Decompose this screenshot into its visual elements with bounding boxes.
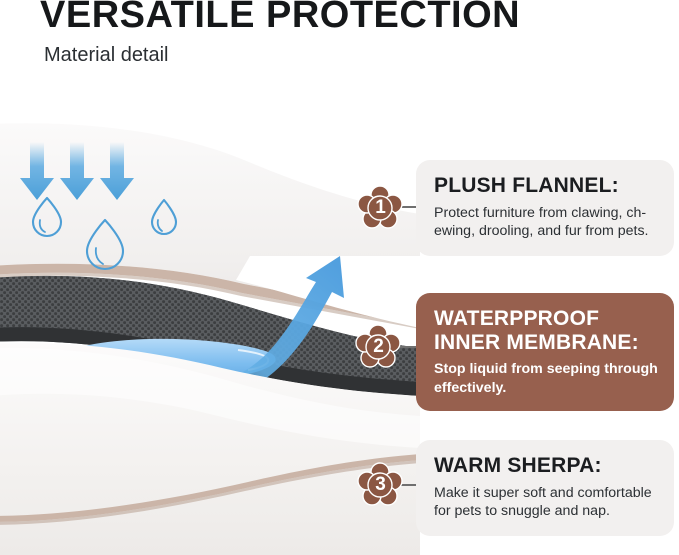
feature-card-plush-flannel-title: PLUSH FLANNEL: bbox=[434, 174, 658, 198]
feature-card-waterproof-membrane-title: WATERPPROOF INNER MEMBRANE: bbox=[434, 307, 658, 354]
feature-card-waterproof-membrane: WATERPPROOF INNER MEMBRANE: Stop liquid … bbox=[416, 293, 674, 411]
down-arrows-group bbox=[20, 142, 134, 200]
step-badge-2-number: 2 bbox=[355, 324, 401, 370]
feature-card-warm-sherpa-title: WARM SHERPA: bbox=[434, 454, 658, 478]
page-title: VERSATILE PROTECTION bbox=[40, 0, 520, 37]
feature-card-plush-flannel-body: Protect furniture from clawing, ch-ewing… bbox=[434, 204, 658, 242]
step-badge-1: 1 bbox=[357, 185, 403, 231]
feature-card-warm-sherpa: WARM SHERPA: Make it super soft and comf… bbox=[416, 440, 674, 536]
step-badge-3-number: 3 bbox=[357, 462, 403, 508]
page-subtitle: Material detail bbox=[44, 44, 169, 67]
feature-card-plush-flannel: PLUSH FLANNEL: Protect furniture from cl… bbox=[416, 160, 674, 256]
step-badge-2: 2 bbox=[355, 324, 401, 370]
step-badge-1-number: 1 bbox=[357, 185, 403, 231]
step-badge-3: 3 bbox=[357, 462, 403, 508]
feature-card-warm-sherpa-body: Make it super soft and comfortable for p… bbox=[434, 484, 658, 522]
feature-card-waterproof-membrane-body: Stop liquid from seeping through effecti… bbox=[434, 360, 658, 398]
infographic-page: VERSATILE PROTECTION Material detail bbox=[0, 0, 679, 555]
